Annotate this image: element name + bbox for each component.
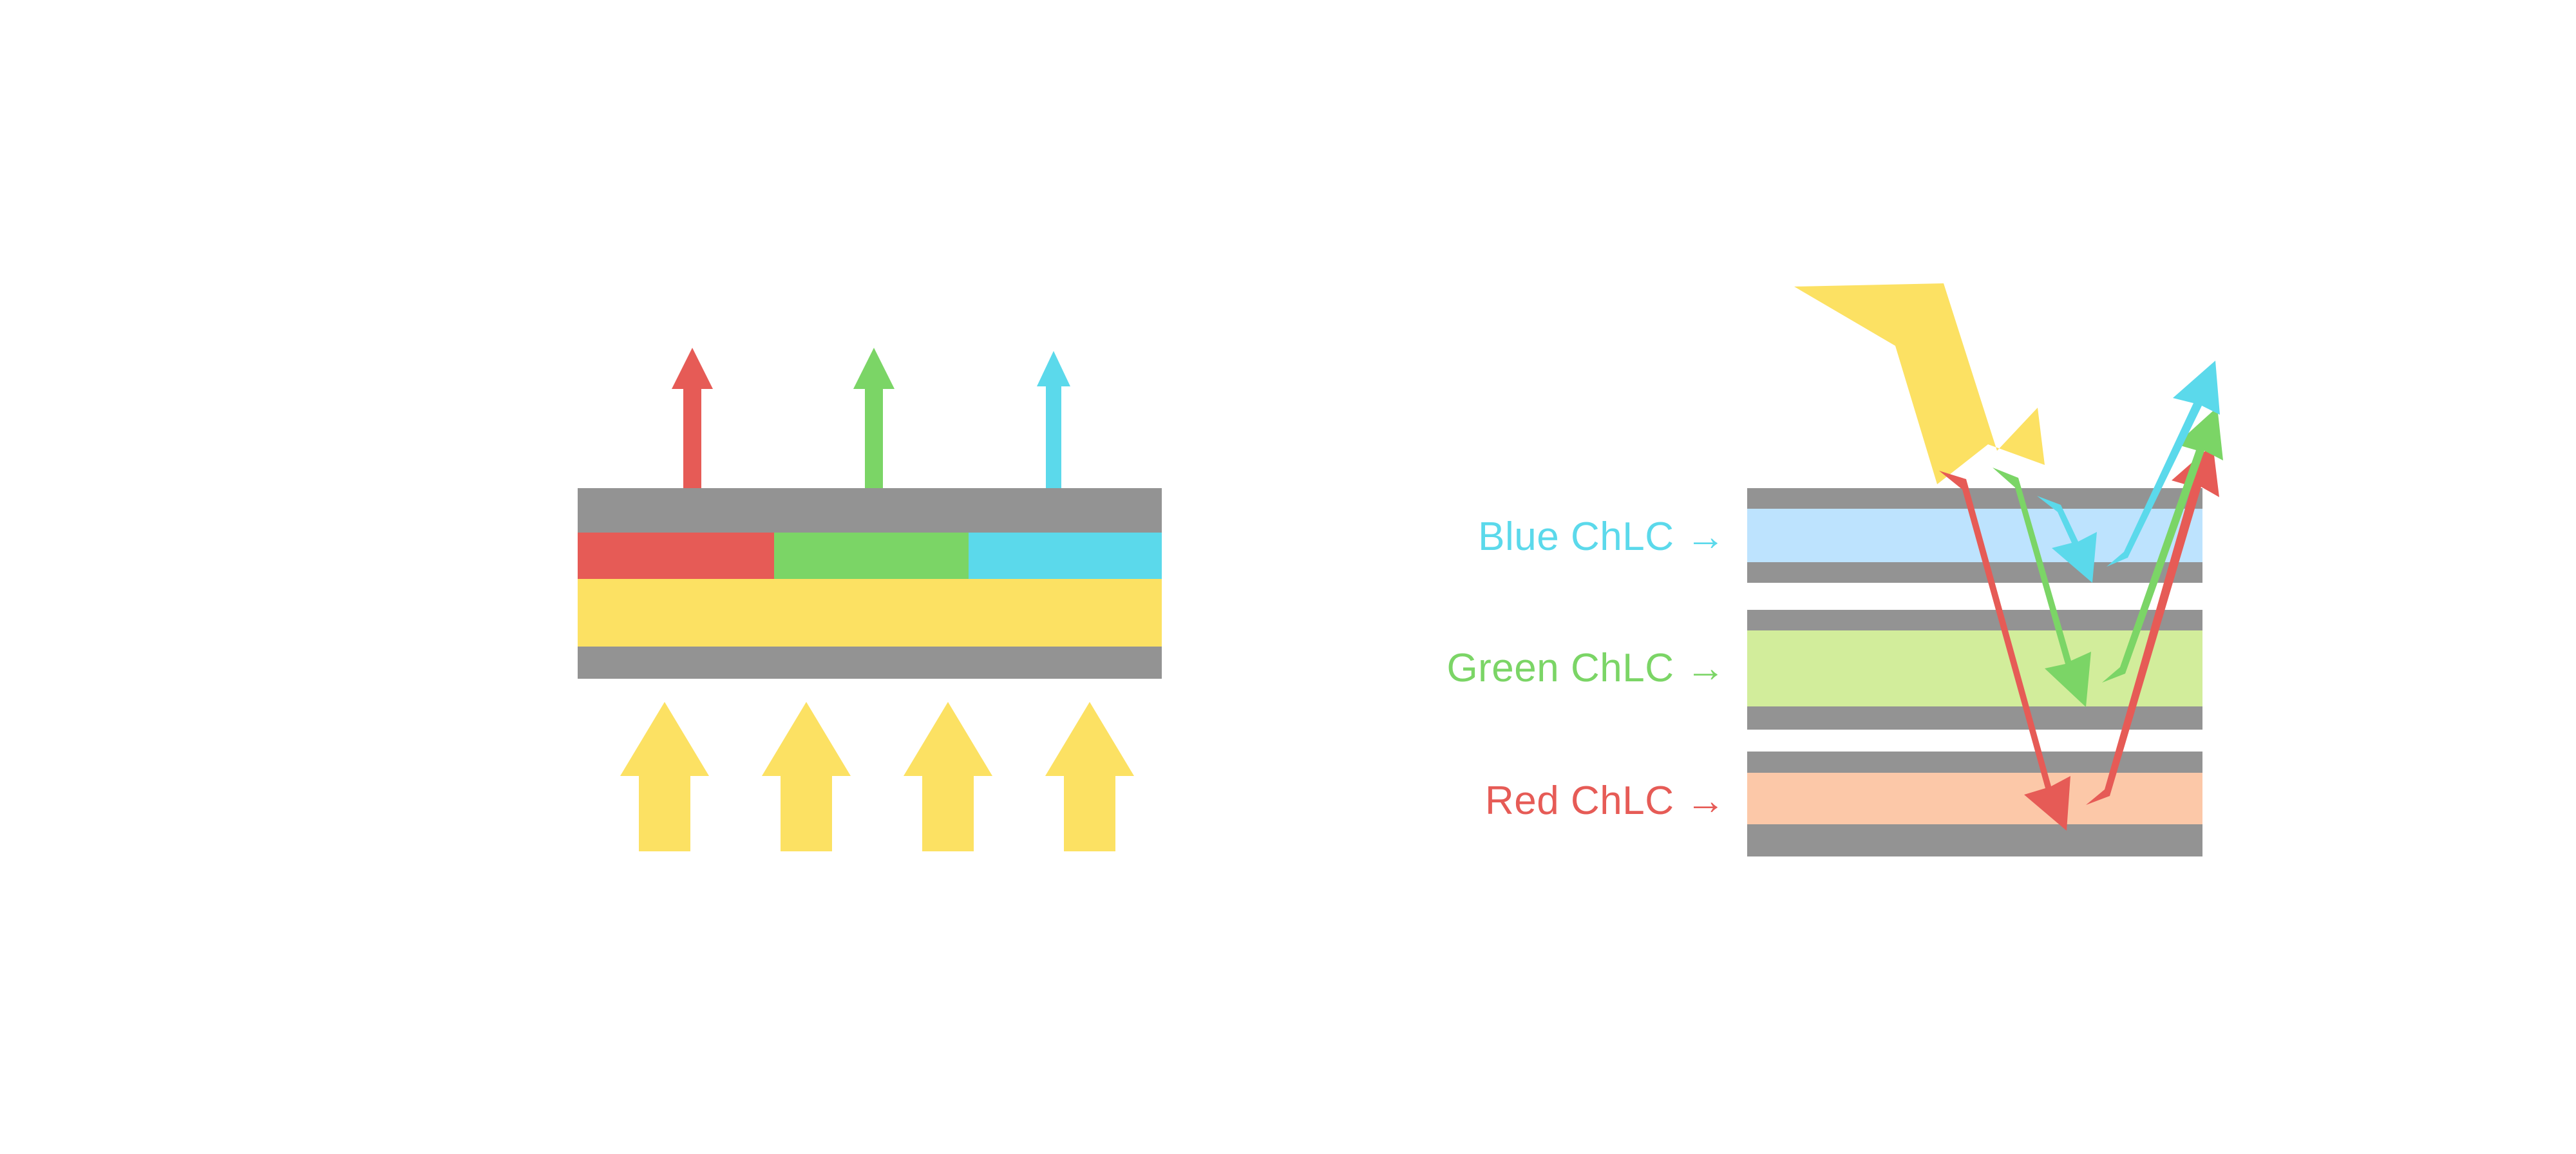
red-chlc-label-text: Red ChLC (1485, 779, 1674, 823)
blue-filter-segment (969, 533, 1162, 579)
blue-chlc-label-text: Blue ChLC (1478, 515, 1674, 559)
red-emitted-arrow (672, 348, 713, 488)
diagram-canvas: Blue ChLC→ Green ChLC→ Red ChLC→ (0, 0, 2576, 1154)
red-cell-bottom-electrode (1747, 824, 2202, 856)
blue-chlc-label-group: Blue ChLC→ (1365, 514, 1726, 560)
bottom-electrode-layer (578, 647, 1162, 679)
left-panel (0, 0, 1288, 1154)
red-chlc-medium (1747, 773, 2202, 824)
green-chlc-label-text: Green ChLC (1446, 646, 1674, 690)
green-filter-segment (774, 533, 969, 579)
green-chlc-label-arrow: → (1674, 646, 1727, 690)
blue-cell-bottom-electrode (1747, 562, 2202, 583)
backlight-arrow (1045, 702, 1134, 851)
right-panel: Blue ChLC→ Green ChLC→ Red ChLC→ (1288, 0, 2576, 1154)
right-panel-svg (1288, 0, 2576, 1154)
backlight-arrows (620, 702, 1134, 851)
top-electrode-layer (578, 488, 1162, 533)
left-display-stack (578, 488, 1162, 679)
left-panel-svg (0, 0, 1288, 1154)
ambient-light-arrow (1794, 283, 2045, 484)
red-chlc-cell (1747, 752, 2202, 856)
red-chlc-label-arrow: → (1674, 779, 1727, 823)
blue-chlc-label-arrow: → (1674, 515, 1727, 559)
backlight-arrow (620, 702, 709, 851)
red-chlc-label-group: Red ChLC→ (1365, 778, 1726, 824)
blue-cell-top-electrode (1747, 488, 2202, 509)
red-cell-top-electrode (1747, 752, 2202, 773)
green-chlc-label-group: Green ChLC→ (1365, 645, 1726, 691)
backlight-arrow (762, 702, 851, 851)
green-emitted-arrow (853, 348, 895, 488)
red-filter-segment (578, 533, 774, 579)
blue-emitted-arrow (1037, 351, 1070, 488)
backlight-arrow (904, 702, 992, 851)
backlight-layer (578, 579, 1162, 647)
